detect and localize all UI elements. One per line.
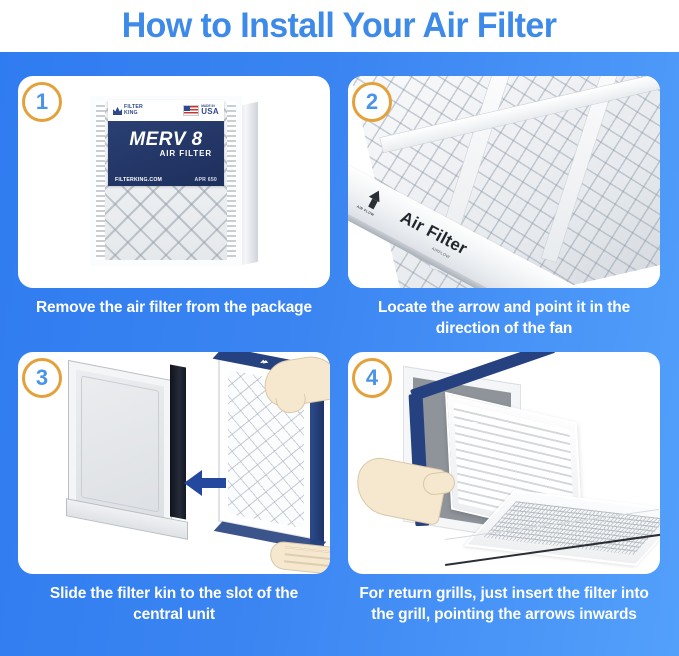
step-caption-2: Locate the arrow and point it in the dir… xyxy=(348,297,660,339)
brand-name: FILTER KING xyxy=(124,105,143,116)
page-title: How to Install Your Air Filter xyxy=(122,7,557,45)
step-caption-3: Slide the filter kin to the slot of the … xyxy=(18,583,330,625)
label-footer: FILTERKING.COM APR 650 xyxy=(108,177,224,183)
filter-pleat-left xyxy=(96,102,105,260)
made-in-usa-badge: MADE IN USA xyxy=(183,105,219,117)
filter-arrow-mark-icon: ▸▸ xyxy=(259,358,270,366)
step-number-3: 3 xyxy=(36,367,48,389)
step-badge-2: 2 xyxy=(352,82,392,122)
made-in-usa-text: MADE IN USA xyxy=(201,105,219,117)
step-caption-1: Remove the air filter from the package xyxy=(18,297,330,318)
slide-filter-illustration: ▸▸ xyxy=(18,352,330,574)
arrow-stem xyxy=(201,478,226,488)
step-caption-4: For return grills, just insert the filte… xyxy=(348,583,660,625)
crown-icon xyxy=(113,106,122,115)
country-label: USA xyxy=(201,108,219,117)
step-badge-4: 4 xyxy=(352,358,392,398)
merv-rating: MERV 8 xyxy=(116,130,216,149)
step-panel-2: AIR FLOW Air Filter AIRFLOW 2 Locate the… xyxy=(348,76,660,339)
return-grill-illustration: ▸▸ xyxy=(348,352,660,574)
title-band: How to Install Your Air Filter xyxy=(0,0,679,52)
step-panel-1: FILTER KING MADE IN USA xyxy=(18,76,330,318)
direction-arrow-icon xyxy=(184,470,226,496)
hand-lower xyxy=(269,540,330,574)
label-header: FILTER KING MADE IN USA xyxy=(108,100,224,121)
step-badge-1: 1 xyxy=(22,82,62,122)
step-1-card: FILTER KING MADE IN USA xyxy=(18,76,330,288)
airflow-arrow-icon xyxy=(364,188,385,212)
step-number-4: 4 xyxy=(366,367,378,389)
step-4-card: ▸▸ 4 xyxy=(348,352,660,574)
filter-corner-photo: AIR FLOW Air Filter AIRFLOW xyxy=(348,76,660,288)
filter-slot-opening xyxy=(170,364,186,519)
filter-king-logo: FILTER KING xyxy=(113,105,143,116)
step-number-2: 2 xyxy=(366,91,378,113)
steps-background: FILTER KING MADE IN USA xyxy=(0,52,679,656)
infographic-poster: How to Install Your Air Filter xyxy=(0,0,679,656)
website-text: FILTERKING.COM xyxy=(115,177,162,183)
product-type: AIR FILTER xyxy=(116,149,216,159)
brand-line-2: KING xyxy=(124,111,143,116)
steps-grid: FILTER KING MADE IN USA xyxy=(0,52,679,656)
filter-product-label: FILTER KING MADE IN USA xyxy=(108,100,224,186)
step-badge-3: 3 xyxy=(22,358,62,398)
label-body: MERV 8 AIR FILTER FILTERKING.COM APR 650 xyxy=(108,121,224,186)
arrow-head xyxy=(184,470,202,496)
filter-package-photo: FILTER KING MADE IN USA xyxy=(90,96,258,268)
step-number-1: 1 xyxy=(36,91,48,113)
filter-pleat-right xyxy=(227,102,236,260)
arrow-stem xyxy=(368,198,378,209)
step-2-card: AIR FLOW Air Filter AIRFLOW 2 xyxy=(348,76,660,288)
step-panel-4: ▸▸ 4 For return grills, just insert the … xyxy=(348,352,660,625)
step-panel-3: ▸▸ 3 xyxy=(18,352,330,625)
step-3-card: ▸▸ 3 xyxy=(18,352,330,574)
usa-flag-icon xyxy=(183,105,199,116)
apr-rating: APR 650 xyxy=(195,177,217,183)
